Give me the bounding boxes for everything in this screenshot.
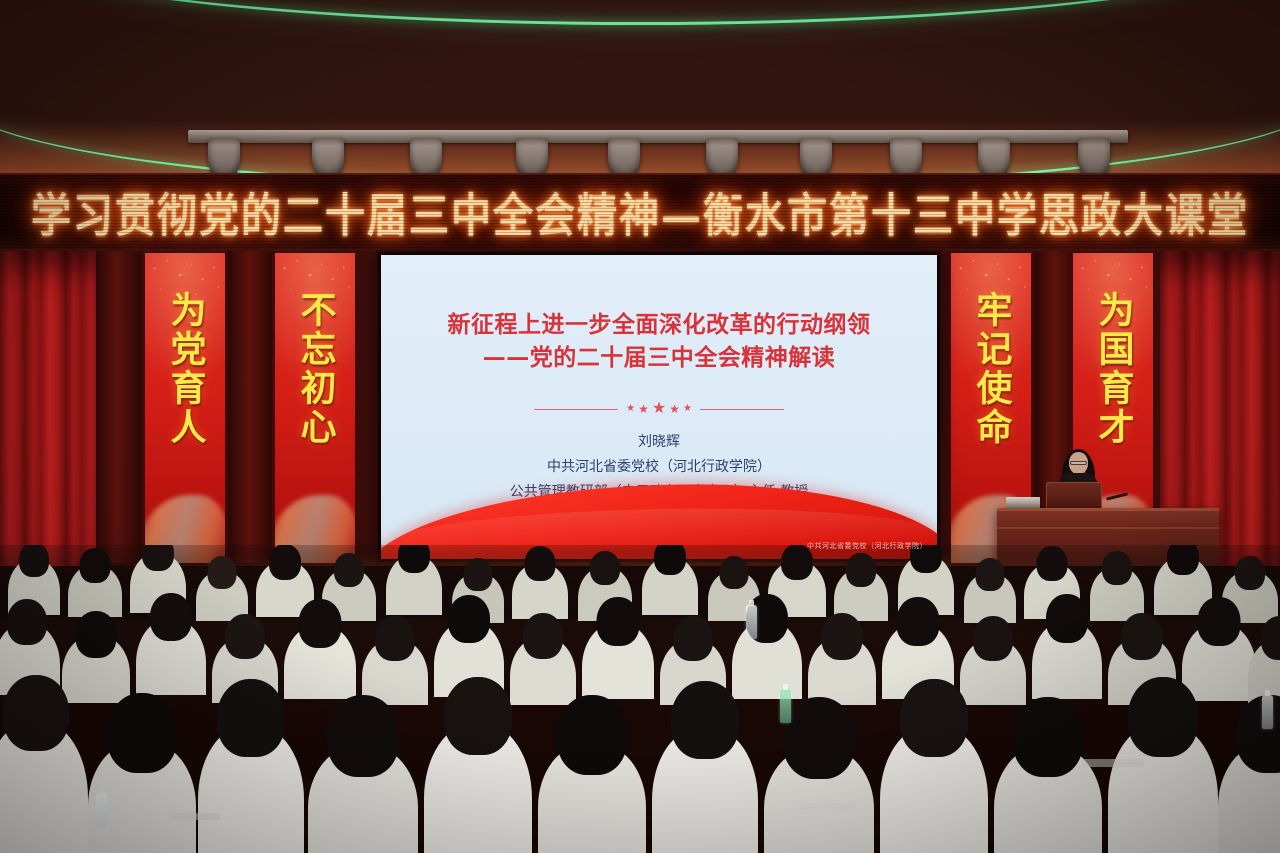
audience-head [150, 593, 192, 641]
audience-member [732, 621, 802, 699]
audience-head [225, 614, 265, 659]
audience-member [642, 557, 698, 615]
water-bottle [780, 689, 791, 723]
audience-head [525, 546, 556, 581]
audience-head [107, 693, 177, 773]
divider-line-right [700, 409, 784, 410]
backdrop-divider-mid-left [228, 251, 274, 563]
audience-head [269, 545, 301, 580]
audience-member [68, 565, 122, 617]
ceiling [0, 0, 1280, 190]
audience-head [900, 679, 968, 757]
water-bottle [746, 605, 757, 639]
led-banner-text: 学习贯彻党的二十届三中全会精神—衡水市第十三中学思政大课堂 [31, 179, 1249, 246]
audience-head [973, 616, 1013, 661]
audience-head [1102, 551, 1132, 585]
banner-panel-weidangyuren: 为党育人 [142, 253, 228, 563]
banner-panel-text: 牢记使命 [965, 291, 1016, 447]
water-bottle [96, 793, 107, 827]
audience-head [822, 613, 863, 660]
audience-member [424, 723, 532, 853]
banner-panel-text: 为党育人 [159, 291, 210, 447]
seat-desk-rail [1082, 759, 1144, 767]
audience-head [1128, 677, 1198, 757]
audience-member [1032, 621, 1102, 699]
audience-head [208, 556, 237, 589]
audience-head [142, 545, 174, 571]
audience-head [80, 548, 111, 583]
audience-head [464, 558, 493, 591]
audience-head [1037, 546, 1068, 581]
banner-panel-text: 不忘初心 [289, 291, 340, 447]
water-bottle [1262, 695, 1273, 729]
audience-member [198, 725, 304, 853]
audience-seating [0, 545, 1280, 853]
audience-head [673, 616, 713, 661]
audience-head [671, 681, 739, 759]
audience-head [217, 679, 285, 757]
divider-line-left [534, 409, 618, 410]
audience-member [62, 635, 130, 703]
seat-desk-rail [800, 803, 856, 810]
audience-head [448, 595, 490, 643]
audience-member [880, 725, 988, 853]
audience-head [976, 558, 1005, 591]
presenter-name: 刘晓辉 [381, 430, 937, 455]
presenter-organization: 中共河北省委党校（河北行政学院） [381, 455, 937, 480]
audience-head [7, 599, 47, 645]
audience-head [557, 695, 627, 775]
audience-head [523, 613, 563, 659]
audience-member [960, 639, 1026, 705]
star-icon: ★ [626, 404, 635, 414]
audience-member [582, 623, 654, 699]
slide-title-line-1: 新征程上进一步全面深化改革的行动纲领 [381, 309, 937, 342]
slide-watermark: 中共河北省委党校（河北行政学院） [807, 541, 927, 551]
banner-panel-text: 为国育才 [1087, 291, 1138, 447]
backdrop-divider-left [96, 251, 142, 563]
slide-star-divider: ★ ★ ★ ★ ★ [381, 401, 937, 417]
audience-member [1108, 723, 1218, 853]
audience-member [284, 625, 356, 699]
audience-head [654, 545, 686, 575]
audience-head [19, 545, 49, 577]
projection-screen: 新征程上进一步全面深化改革的行动纲领 ——党的二十届三中全会精神解读 ★ ★ ★… [381, 255, 937, 559]
glasses-icon [1070, 461, 1087, 465]
projection-screen-frame: 新征程上进一步全面深化改革的行动纲领 ——党的二十届三中全会精神解读 ★ ★ ★… [378, 252, 940, 562]
audience-member [308, 745, 418, 853]
divider-stars: ★ ★ ★ ★ ★ [626, 401, 692, 417]
seat-desk-rail [170, 813, 220, 820]
audience-member [512, 563, 568, 619]
auditorium-scene: 学习贯彻党的二十届三中全会精神—衡水市第十三中学思政大课堂 为党育人 不忘初心 … [0, 0, 1280, 853]
audience-head [1122, 613, 1163, 660]
audience-member [808, 637, 876, 705]
star-icon: ★ [669, 403, 680, 415]
audience-head [1013, 697, 1083, 777]
stage-curtain-left [0, 251, 100, 571]
audience-head [720, 556, 749, 589]
audience-head [76, 611, 117, 658]
led-banner: 学习贯彻党的二十届三中全会精神—衡水市第十三中学思政大课堂 [0, 173, 1280, 251]
audience-head [375, 616, 415, 661]
audience-head [327, 695, 399, 777]
audience-head [398, 545, 430, 573]
banner-panel-buwangchuxin: 不忘初心 [272, 253, 358, 563]
audience-head [1235, 556, 1265, 590]
audience-head [1198, 597, 1241, 646]
audience-member [538, 743, 646, 853]
ceiling-led-strip-1 [0, 0, 1280, 25]
audience-head [597, 597, 640, 646]
audience-head [1046, 594, 1088, 643]
star-icon: ★ [652, 401, 666, 417]
audience-head [1167, 545, 1199, 575]
audience-head [783, 697, 855, 779]
podium-laptop [1046, 482, 1102, 510]
star-icon: ★ [683, 404, 692, 414]
audience-head [3, 675, 69, 751]
audience-member [652, 727, 758, 853]
star-icon: ★ [638, 403, 649, 415]
audience-member [510, 637, 576, 705]
audience-member [386, 555, 442, 615]
audience-head [444, 677, 512, 755]
slide-title-block: 新征程上进一步全面深化改革的行动纲领 ——党的二十届三中全会精神解读 [381, 309, 937, 376]
audience-member [136, 619, 206, 695]
audience-head [846, 553, 876, 587]
audience-head [897, 597, 940, 646]
audience-head [334, 553, 364, 587]
audience-member [1182, 623, 1256, 701]
audience-member [764, 747, 874, 853]
slide-title-line-2: ——党的二十届三中全会精神解读 [381, 342, 937, 375]
audience-head [590, 551, 620, 585]
audience-head [299, 599, 342, 648]
